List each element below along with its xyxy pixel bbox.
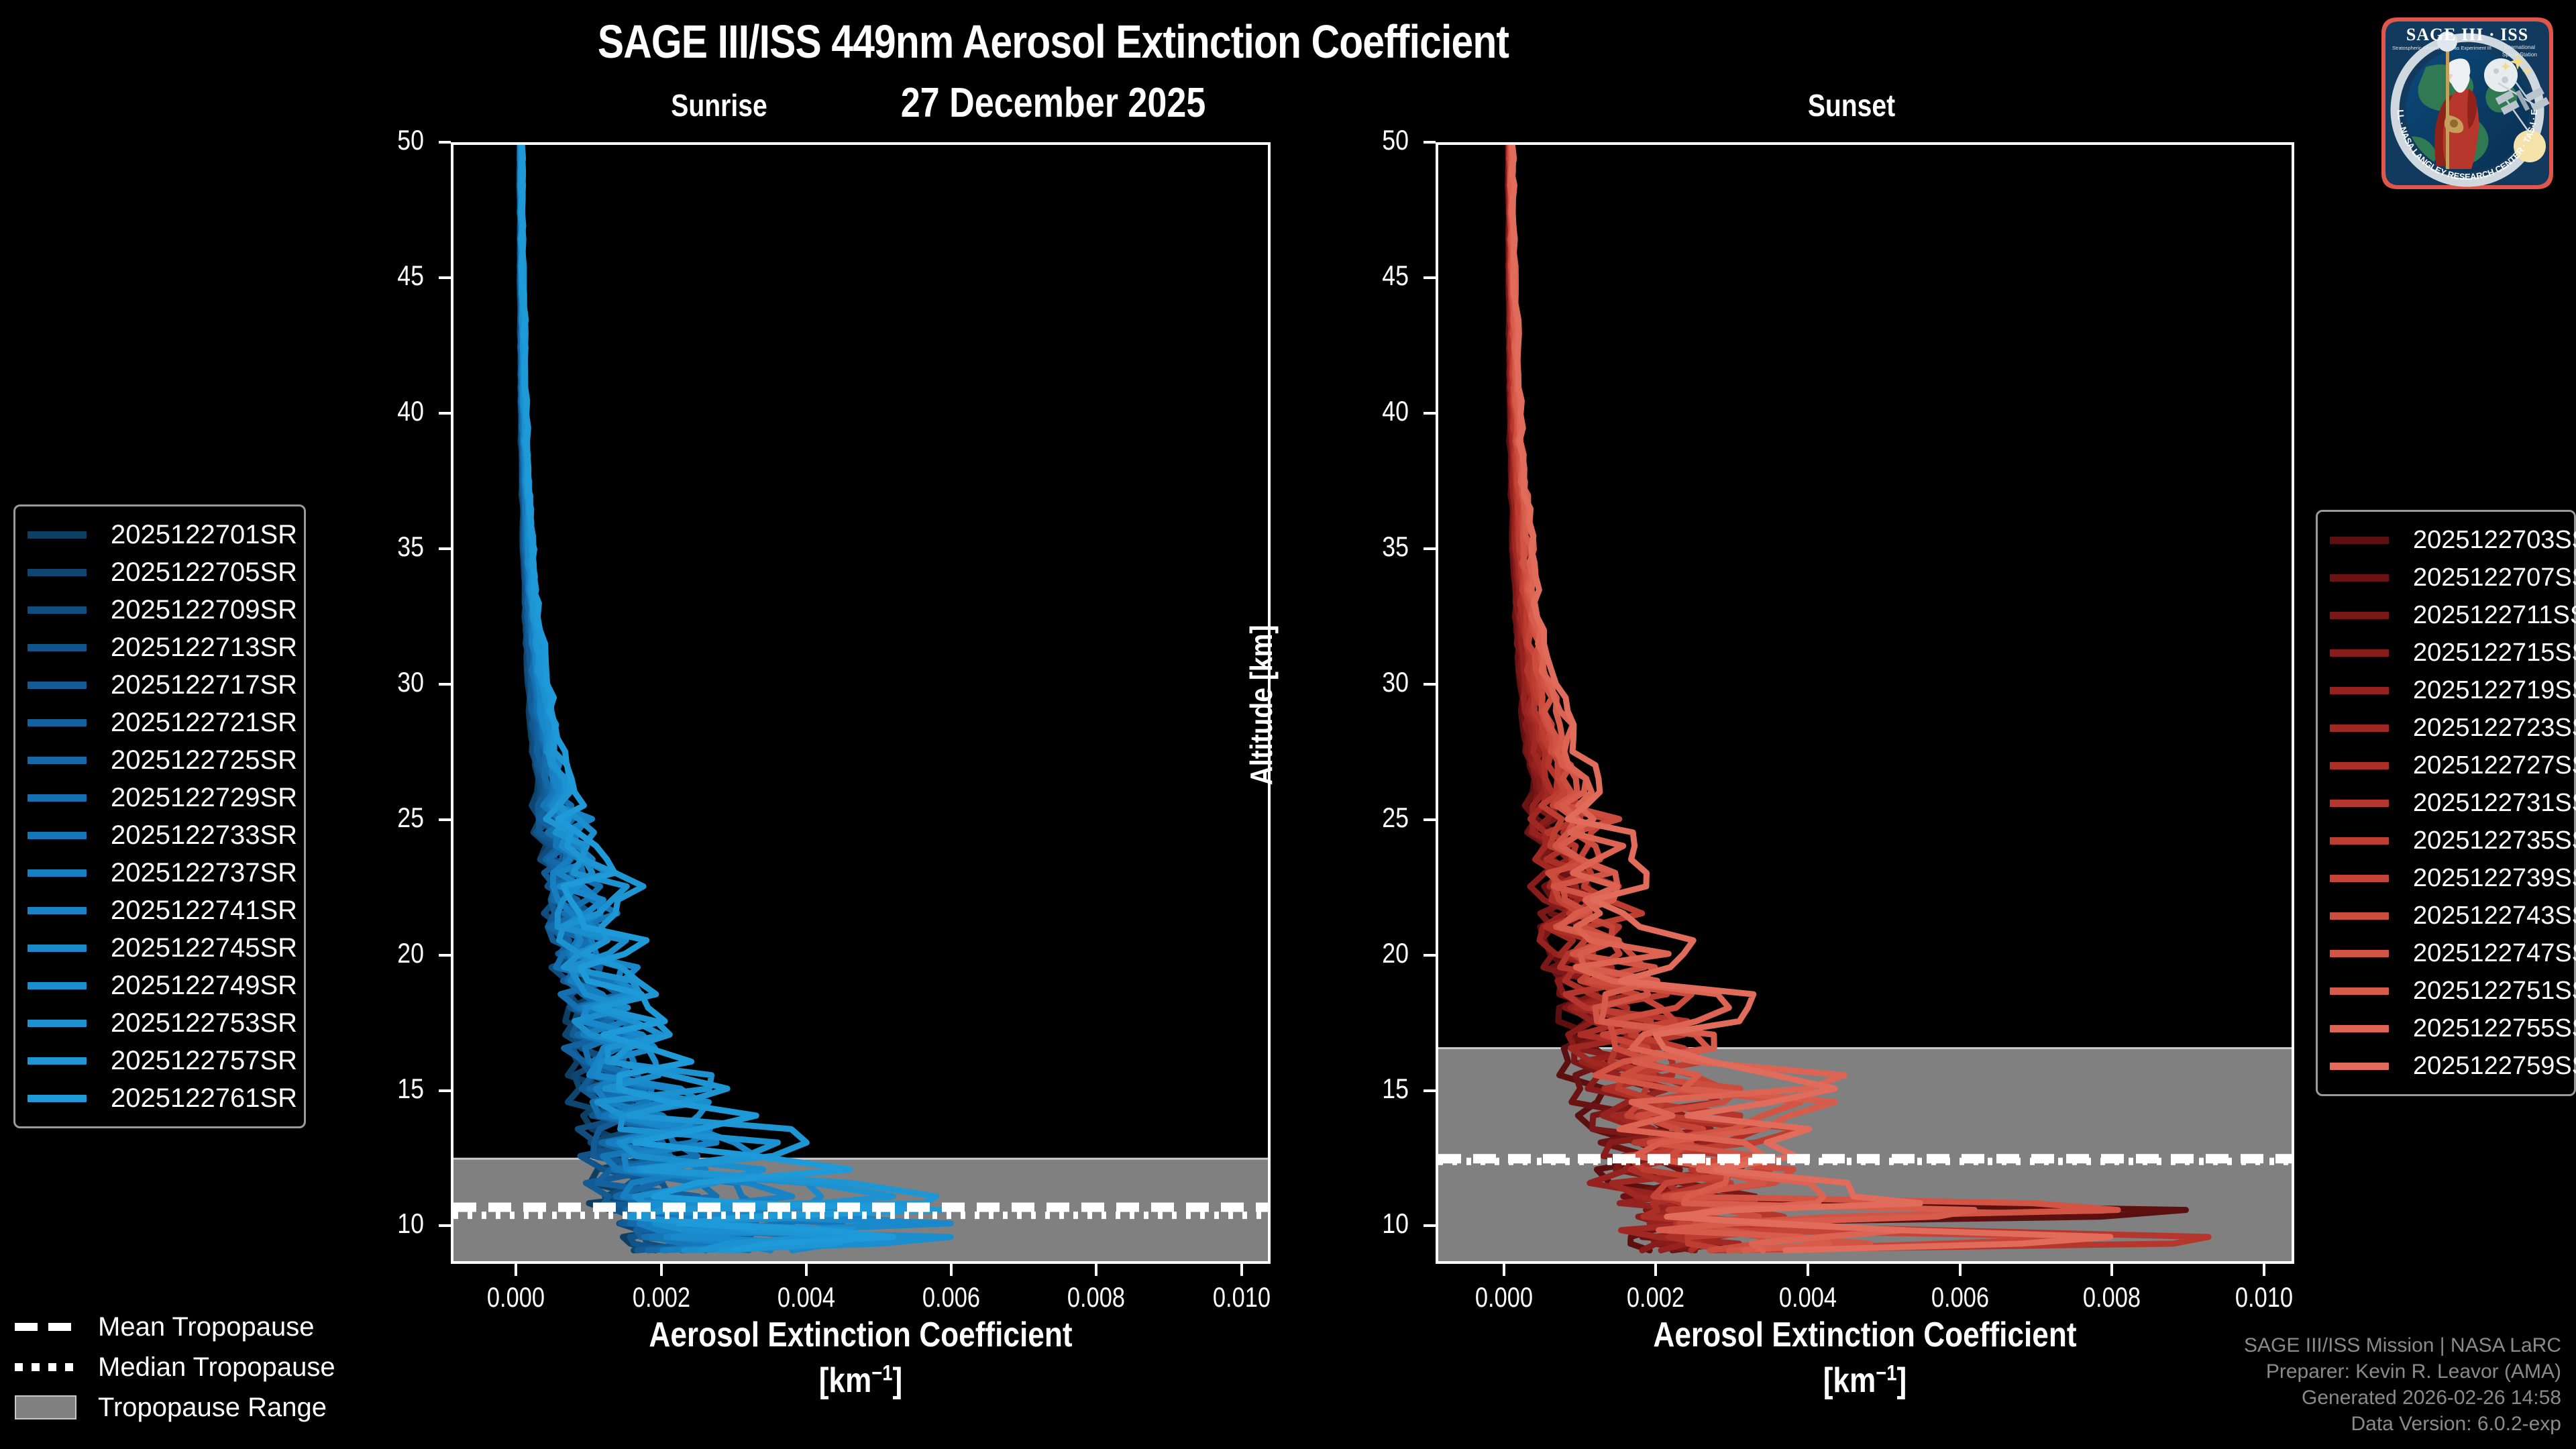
x-tick-label: 0.002 bbox=[1595, 1281, 1716, 1313]
x-axis-unit-sunset: [km−1] bbox=[1506, 1360, 2224, 1401]
panel-title-sunrise: Sunrise bbox=[605, 87, 833, 123]
legend-sunset-swatch-wrap bbox=[2330, 987, 2409, 995]
y-tick-mark bbox=[439, 683, 451, 686]
legend-sunset-item[interactable]: 2025122727SS bbox=[2330, 747, 2562, 784]
x-tick-label: 0.008 bbox=[2051, 1281, 2172, 1313]
dashed-line-icon bbox=[15, 1323, 76, 1331]
x-tick-mark bbox=[1807, 1264, 1809, 1276]
legend-sunrise-line-swatch bbox=[28, 1095, 87, 1102]
legend-sunrise-line-swatch bbox=[28, 569, 87, 576]
legend-sunset-item[interactable]: 2025122731SS bbox=[2330, 784, 2562, 822]
x-tick-label: 0.006 bbox=[1899, 1281, 2020, 1313]
unit-close: ] bbox=[893, 1361, 903, 1400]
x-tick-label: 0.006 bbox=[891, 1281, 1012, 1313]
x-axis-label-sunrise: Aerosol Extinction Coefficient bbox=[519, 1315, 1203, 1355]
legend-sunrise-label: 2025122713SR bbox=[107, 633, 297, 663]
y-tick-label: 25 bbox=[1312, 802, 1409, 834]
legend-sunrise-label: 2025122737SR bbox=[107, 858, 297, 888]
y-tick-mark bbox=[439, 1224, 451, 1227]
y-tick-label: 45 bbox=[1312, 260, 1409, 292]
legend-sunset-swatch-wrap bbox=[2330, 912, 2409, 920]
legend-sunset-line-swatch bbox=[2330, 687, 2389, 694]
y-tick-label: 35 bbox=[1312, 531, 1409, 563]
y-tick-mark bbox=[439, 547, 451, 550]
legend-item-mean-tropopause: Mean Tropopause bbox=[15, 1307, 390, 1347]
sunset-plot-svg bbox=[1438, 145, 2292, 1261]
legend-sunrise-line-swatch bbox=[28, 531, 87, 539]
legend-sunset-label: 2025122703SS bbox=[2409, 526, 2576, 555]
x-tick-label: 0.010 bbox=[2203, 1281, 2324, 1313]
legend-sunset-label: 2025122707SS bbox=[2409, 563, 2576, 592]
legend-sunrise-line-swatch bbox=[28, 719, 87, 727]
chart-panel-sunrise bbox=[451, 142, 1271, 1264]
legend-sunrise-item[interactable]: 2025122713SR bbox=[28, 629, 292, 666]
sage-iii-iss-mission-patch-logo: SAGE III · ISS Stratospheric Aerosol and… bbox=[2367, 3, 2568, 204]
legend-sunset-swatch-wrap bbox=[2330, 950, 2409, 957]
legend-sunset-line-swatch bbox=[2330, 1063, 2389, 1070]
y-tick-mark bbox=[439, 1089, 451, 1092]
legend-sunset-item[interactable]: 2025122723SS bbox=[2330, 709, 2562, 747]
legend-sunset-label: 2025122727SS bbox=[2409, 751, 2576, 780]
legend-sunrise-line-swatch bbox=[28, 682, 87, 689]
legend-sunrise-label: 2025122717SR bbox=[107, 670, 297, 700]
panel-title-sunset: Sunset bbox=[1737, 87, 1966, 123]
legend-sunset-label: 2025122739SS bbox=[2409, 864, 2576, 893]
x-tick-label: 0.004 bbox=[1748, 1281, 1868, 1313]
legend-sunset-item[interactable]: 2025122743SS bbox=[2330, 897, 2562, 934]
x-tick-mark bbox=[515, 1264, 517, 1276]
legend-sunrise-label: 2025122725SR bbox=[107, 745, 297, 775]
legend-sunrise-swatch-wrap bbox=[28, 719, 107, 727]
y-tick-label: 15 bbox=[327, 1073, 425, 1105]
median-tropopause-swatch-wrap bbox=[15, 1363, 94, 1371]
legend-sunrise-item[interactable]: 2025122741SR bbox=[28, 892, 292, 929]
legend-sunrise-swatch-wrap bbox=[28, 531, 107, 539]
legend-sunset-swatch-wrap bbox=[2330, 1063, 2409, 1070]
legend-sunset-label: 2025122747SS bbox=[2409, 939, 2576, 968]
y-tick-mark bbox=[1424, 818, 1436, 821]
logo-wizard-staff bbox=[2446, 42, 2449, 169]
legend-sunrise-line-swatch bbox=[28, 907, 87, 914]
y-tick-label: 10 bbox=[327, 1207, 425, 1240]
x-tick-label: 0.004 bbox=[746, 1281, 867, 1313]
x-tick-label: 0.000 bbox=[455, 1281, 576, 1313]
y-tick-mark bbox=[439, 954, 451, 957]
legend-sunrise-label: 2025122749SR bbox=[107, 971, 297, 1001]
y-tick-mark bbox=[1424, 954, 1436, 957]
unit-base: [km bbox=[819, 1361, 872, 1400]
y-tick-label: 40 bbox=[1312, 395, 1409, 427]
legend-sunset-line-swatch bbox=[2330, 1025, 2389, 1032]
legend-sunrise-item[interactable]: 2025122705SR bbox=[28, 553, 292, 591]
page-subtitle-date: 27 December 2025 bbox=[168, 79, 1938, 127]
legend-sunset-item[interactable]: 2025122703SS bbox=[2330, 521, 2562, 559]
x-tick-mark bbox=[660, 1264, 663, 1276]
y-tick-label: 30 bbox=[327, 666, 425, 698]
legend-sunrise-swatch-wrap bbox=[28, 1095, 107, 1102]
legend-sunset-item[interactable]: 2025122735SS bbox=[2330, 822, 2562, 859]
y-tick-mark bbox=[1424, 141, 1436, 144]
legend-sunrise-swatch-wrap bbox=[28, 606, 107, 614]
y-tick-label: 45 bbox=[327, 260, 425, 292]
legend-sunset-swatch-wrap bbox=[2330, 649, 2409, 657]
x-tick-mark bbox=[1654, 1264, 1657, 1276]
legend-sunset-swatch-wrap bbox=[2330, 612, 2409, 619]
legend-sunrise-item[interactable]: 2025122757SR bbox=[28, 1042, 292, 1079]
legend-sunrise-swatch-wrap bbox=[28, 682, 107, 689]
legend-sunrise-item[interactable]: 2025122753SR bbox=[28, 1004, 292, 1042]
x-tick-mark bbox=[2263, 1264, 2265, 1276]
unit-close: ] bbox=[1897, 1361, 1907, 1400]
legend-tropopause: Mean Tropopause Median Tropopause Tropop… bbox=[15, 1307, 390, 1428]
legend-sunrise[interactable]: 2025122701SR2025122705SR2025122709SR2025… bbox=[13, 504, 306, 1128]
legend-sunset-label: 2025122751SS bbox=[2409, 977, 2576, 1006]
legend-sunrise-item[interactable]: 2025122733SR bbox=[28, 816, 292, 854]
legend-sunset-line-swatch bbox=[2330, 649, 2389, 657]
legend-sunset-line-swatch bbox=[2330, 837, 2389, 845]
logo-svg: SAGE III · ISS Stratospheric Aerosol and… bbox=[2367, 3, 2568, 204]
credits-line-preparer: Preparer: Kevin R. Leavor (AMA) bbox=[2244, 1358, 2561, 1385]
y-tick-mark bbox=[439, 412, 451, 415]
legend-sunset-label: 2025122711SS bbox=[2409, 601, 2576, 630]
x-tick-mark bbox=[2110, 1264, 2113, 1276]
legend-sunset-label: 2025122743SS bbox=[2409, 902, 2576, 930]
x-axis-label-sunset: Aerosol Extinction Coefficient bbox=[1506, 1315, 2224, 1355]
chart-panel-sunset bbox=[1436, 142, 2294, 1264]
legend-sunrise-line-swatch bbox=[28, 644, 87, 651]
legend-sunset-label: 2025122715SS bbox=[2409, 639, 2576, 667]
legend-sunrise-item[interactable]: 2025122709SR bbox=[28, 591, 292, 629]
y-axis-label-sunset: Altitude [km] bbox=[1243, 571, 1279, 839]
legend-sunrise-item[interactable]: 2025122717SR bbox=[28, 666, 292, 704]
y-tick-label: 15 bbox=[1312, 1073, 1409, 1105]
legend-sunset-line-swatch bbox=[2330, 762, 2389, 769]
legend-sunset-label: 2025122719SS bbox=[2409, 676, 2576, 705]
legend-sunrise-label: 2025122753SR bbox=[107, 1008, 297, 1038]
legend-label-median-tropopause: Median Tropopause bbox=[94, 1352, 335, 1383]
legend-sunrise-item[interactable]: 2025122725SR bbox=[28, 741, 292, 779]
legend-sunset-swatch-wrap bbox=[2330, 875, 2409, 882]
mean-tropopause-swatch-wrap bbox=[15, 1323, 94, 1331]
y-tick-mark bbox=[439, 818, 451, 821]
legend-sunrise-line-swatch bbox=[28, 757, 87, 764]
legend-sunset-item[interactable]: 2025122759SS bbox=[2330, 1047, 2562, 1085]
credits-line-mission: SAGE III/ISS Mission | NASA LaRC bbox=[2244, 1332, 2561, 1358]
legend-sunset-label: 2025122759SS bbox=[2409, 1052, 2576, 1081]
credits-line-version: Data Version: 6.0.2-exp bbox=[2244, 1411, 2561, 1437]
y-tick-label: 30 bbox=[1312, 666, 1409, 698]
plot-canvas: SAGE III/ISS 449nm Aerosol Extinction Co… bbox=[0, 0, 2576, 1449]
legend-sunrise-line-swatch bbox=[28, 982, 87, 989]
x-tick-mark bbox=[1240, 1264, 1243, 1276]
legend-sunset-line-swatch bbox=[2330, 574, 2389, 582]
y-tick-mark bbox=[1424, 412, 1436, 415]
legend-sunrise-swatch-wrap bbox=[28, 907, 107, 914]
x-tick-mark bbox=[805, 1264, 808, 1276]
legend-item-median-tropopause: Median Tropopause bbox=[15, 1347, 390, 1387]
y-tick-label: 10 bbox=[1312, 1207, 1409, 1240]
y-tick-label: 20 bbox=[1312, 937, 1409, 969]
y-tick-mark bbox=[1424, 1089, 1436, 1092]
credits-line-generated: Generated 2026-02-26 14:58 bbox=[2244, 1385, 2561, 1411]
y-tick-mark bbox=[439, 141, 451, 144]
legend-sunrise-swatch-wrap bbox=[28, 569, 107, 576]
legend-sunrise-item[interactable]: 2025122745SR bbox=[28, 929, 292, 967]
y-tick-label: 50 bbox=[327, 124, 425, 156]
legend-sunset-label: 2025122755SS bbox=[2409, 1014, 2576, 1043]
legend-sunrise-swatch-wrap bbox=[28, 1057, 107, 1065]
x-tick-mark bbox=[1095, 1264, 1097, 1276]
y-tick-mark bbox=[1424, 683, 1436, 686]
legend-sunset-label: 2025122723SS bbox=[2409, 714, 2576, 743]
x-tick-mark bbox=[1959, 1264, 1962, 1276]
legend-sunset-item[interactable]: 2025122739SS bbox=[2330, 859, 2562, 897]
x-tick-label: 0.010 bbox=[1181, 1281, 1302, 1313]
legend-sunrise-label: 2025122705SR bbox=[107, 557, 297, 588]
legend-sunset-swatch-wrap bbox=[2330, 574, 2409, 582]
legend-sunset-line-swatch bbox=[2330, 912, 2389, 920]
legend-sunset-item[interactable]: 2025122751SS bbox=[2330, 972, 2562, 1010]
legend-sunrise-swatch-wrap bbox=[28, 1020, 107, 1027]
legend-sunset-item[interactable]: 2025122755SS bbox=[2330, 1010, 2562, 1047]
legend-sunrise-item[interactable]: 2025122701SR bbox=[28, 516, 292, 553]
legend-sunrise-label: 2025122733SR bbox=[107, 820, 297, 851]
legend-sunset-swatch-wrap bbox=[2330, 687, 2409, 694]
legend-sunrise-swatch-wrap bbox=[28, 644, 107, 651]
x-axis-unit-sunrise: [km−1] bbox=[519, 1360, 1203, 1401]
legend-sunrise-label: 2025122745SR bbox=[107, 933, 297, 963]
legend-sunrise-label: 2025122721SR bbox=[107, 708, 297, 738]
y-tick-mark bbox=[439, 276, 451, 279]
legend-sunrise-label: 2025122761SR bbox=[107, 1083, 297, 1114]
legend-sunrise-label: 2025122741SR bbox=[107, 896, 297, 926]
x-tick-mark bbox=[950, 1264, 953, 1276]
legend-sunset-line-swatch bbox=[2330, 987, 2389, 995]
legend-sunrise-item[interactable]: 2025122721SR bbox=[28, 704, 292, 741]
logo-moon bbox=[2484, 58, 2518, 92]
legend-sunrise-swatch-wrap bbox=[28, 794, 107, 802]
legend-sunrise-item[interactable]: 2025122749SR bbox=[28, 967, 292, 1004]
legend-sunset-item[interactable]: 2025122747SS bbox=[2330, 934, 2562, 972]
legend-label-tropopause-range: Tropopause Range bbox=[94, 1393, 327, 1423]
legend-sunset-swatch-wrap bbox=[2330, 762, 2409, 769]
legend-sunrise-swatch-wrap bbox=[28, 945, 107, 952]
x-tick-label: 0.002 bbox=[600, 1281, 721, 1313]
unit-base: [km bbox=[1823, 1361, 1876, 1400]
legend-sunrise-line-swatch bbox=[28, 869, 87, 877]
logo-subtitle-right-1: International bbox=[2504, 44, 2535, 50]
legend-item-tropopause-range: Tropopause Range bbox=[15, 1387, 390, 1428]
legend-sunset-swatch-wrap bbox=[2330, 837, 2409, 845]
y-tick-label: 20 bbox=[327, 937, 425, 969]
y-tick-label: 35 bbox=[327, 531, 425, 563]
legend-sunset-line-swatch bbox=[2330, 537, 2389, 544]
legend-sunrise-label: 2025122709SR bbox=[107, 595, 297, 625]
legend-sunset-label: 2025122735SS bbox=[2409, 826, 2576, 855]
legend-sunset-item[interactable]: 2025122711SS bbox=[2330, 596, 2562, 634]
x-tick-mark bbox=[1503, 1264, 1505, 1276]
legend-sunset-line-swatch bbox=[2330, 950, 2389, 957]
y-tick-mark bbox=[1424, 547, 1436, 550]
profile-line bbox=[520, 145, 843, 1250]
legend-sunset[interactable]: 2025122703SS2025122707SS2025122711SS2025… bbox=[2316, 510, 2576, 1096]
legend-sunrise-label: 2025122729SR bbox=[107, 783, 297, 813]
legend-sunrise-label: 2025122757SR bbox=[107, 1046, 297, 1076]
y-tick-label: 40 bbox=[327, 395, 425, 427]
legend-sunrise-swatch-wrap bbox=[28, 982, 107, 989]
legend-sunset-label: 2025122731SS bbox=[2409, 789, 2576, 818]
legend-sunset-item[interactable]: 2025122715SS bbox=[2330, 634, 2562, 672]
legend-sunrise-line-swatch bbox=[28, 794, 87, 802]
legend-sunset-swatch-wrap bbox=[2330, 1025, 2409, 1032]
legend-sunset-line-swatch bbox=[2330, 724, 2389, 732]
legend-sunset-swatch-wrap bbox=[2330, 537, 2409, 544]
legend-sunrise-line-swatch bbox=[28, 606, 87, 614]
legend-sunset-swatch-wrap bbox=[2330, 724, 2409, 732]
sunrise-plot-svg bbox=[453, 145, 1268, 1261]
y-tick-mark bbox=[1424, 276, 1436, 279]
y-tick-label: 25 bbox=[327, 802, 425, 834]
legend-sunrise-item[interactable]: 2025122737SR bbox=[28, 854, 292, 892]
legend-sunrise-line-swatch bbox=[28, 945, 87, 952]
credits-block: SAGE III/ISS Mission | NASA LaRC Prepare… bbox=[2244, 1332, 2561, 1437]
dotted-line-icon bbox=[15, 1363, 76, 1371]
shaded-band-icon bbox=[15, 1395, 76, 1419]
legend-sunrise-line-swatch bbox=[28, 1057, 87, 1065]
logo-subtitle-right-2: Space Station bbox=[2502, 51, 2537, 58]
x-tick-label: 0.000 bbox=[1444, 1281, 1564, 1313]
legend-sunrise-item[interactable]: 2025122761SR bbox=[28, 1079, 292, 1117]
logo-subtitle-left: Stratospheric Aerosol and Gas Experiment… bbox=[2392, 45, 2491, 51]
tropopause-range-swatch-wrap bbox=[15, 1395, 94, 1419]
y-tick-label: 50 bbox=[1312, 124, 1409, 156]
legend-sunrise-line-swatch bbox=[28, 832, 87, 839]
legend-label-mean-tropopause: Mean Tropopause bbox=[94, 1312, 314, 1342]
legend-sunset-swatch-wrap bbox=[2330, 800, 2409, 807]
unit-exponent: −1 bbox=[1876, 1360, 1896, 1385]
legend-sunrise-item[interactable]: 2025122729SR bbox=[28, 779, 292, 816]
legend-sunset-line-swatch bbox=[2330, 875, 2389, 882]
legend-sunset-line-swatch bbox=[2330, 800, 2389, 807]
legend-sunrise-swatch-wrap bbox=[28, 832, 107, 839]
unit-exponent: −1 bbox=[871, 1360, 892, 1385]
legend-sunset-line-swatch bbox=[2330, 612, 2389, 619]
legend-sunrise-line-swatch bbox=[28, 1020, 87, 1027]
legend-sunrise-label: 2025122701SR bbox=[107, 520, 297, 550]
x-tick-label: 0.008 bbox=[1036, 1281, 1157, 1313]
legend-sunrise-swatch-wrap bbox=[28, 757, 107, 764]
page-title: SAGE III/ISS 449nm Aerosol Extinction Co… bbox=[168, 15, 1938, 68]
legend-sunset-item[interactable]: 2025122707SS bbox=[2330, 559, 2562, 596]
legend-sunrise-swatch-wrap bbox=[28, 869, 107, 877]
legend-sunset-item[interactable]: 2025122719SS bbox=[2330, 672, 2562, 709]
y-tick-mark bbox=[1424, 1224, 1436, 1227]
logo-title: SAGE III · ISS bbox=[2406, 25, 2528, 44]
